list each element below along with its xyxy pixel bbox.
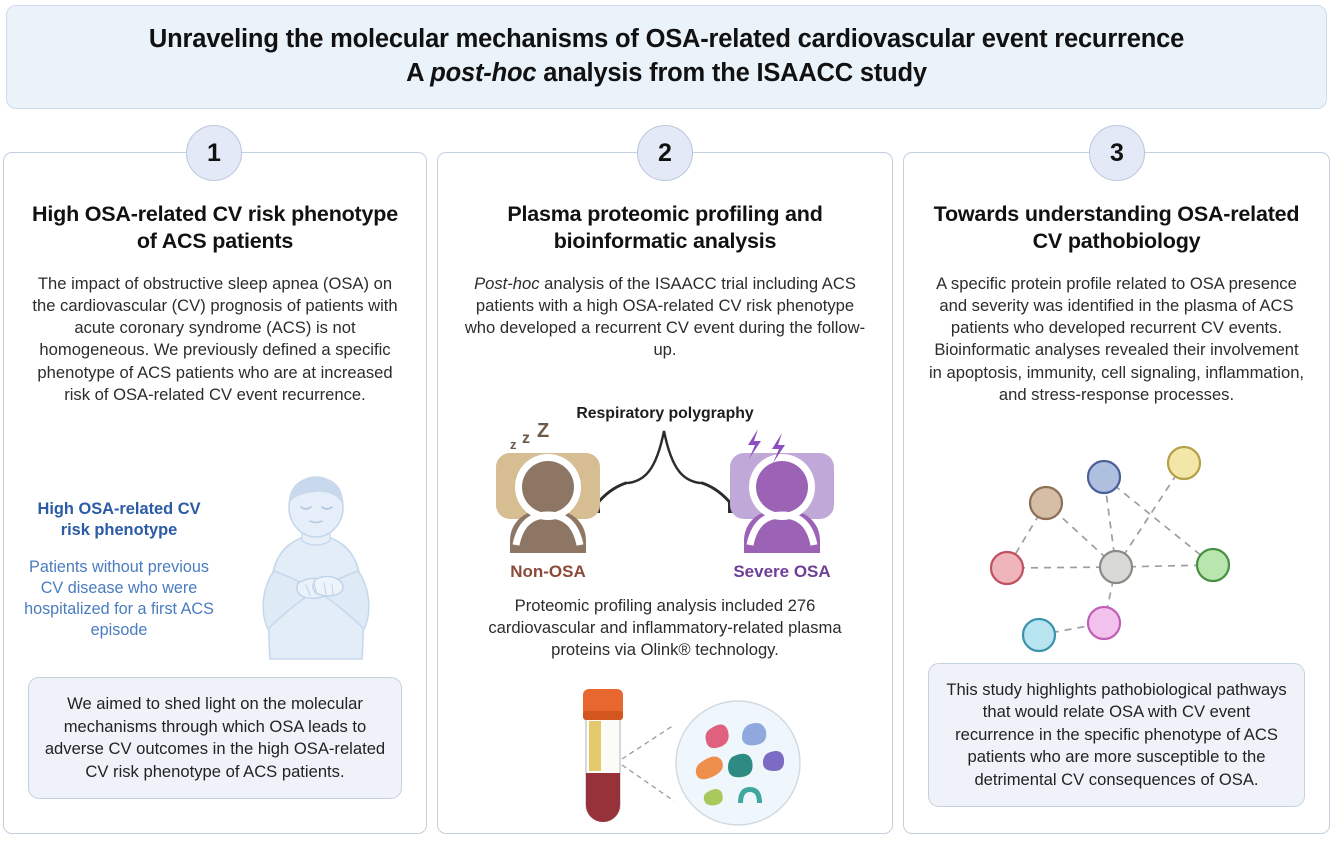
- panel-3-callout: This study highlights pathobiological pa…: [928, 663, 1305, 807]
- graphical-abstract: Unraveling the molecular mechanisms of O…: [0, 0, 1333, 841]
- panel-2-body-emphasis: Post-hoc: [474, 274, 539, 293]
- patient-illustration: [232, 479, 400, 661]
- network-node-pink: [1088, 607, 1120, 639]
- panel-3-body: A specific protein profile related to OS…: [904, 255, 1329, 406]
- network-node-tan: [1030, 487, 1062, 519]
- panel-1-body: The impact of obstructive sleep apnea (O…: [4, 255, 426, 406]
- non-osa-caption: Non-OSA: [510, 562, 586, 581]
- panel-2-blood-figure: [438, 681, 892, 831]
- title-line-2-pre: A: [406, 59, 430, 87]
- svg-text:z: z: [522, 430, 530, 447]
- title-line-2-post: analysis from the ISAACC study: [536, 59, 927, 87]
- network-node-yellow: [1168, 447, 1200, 479]
- panel-2-body: Post-hoc analysis of the ISAACC trial in…: [438, 255, 892, 362]
- polygraphy-label: Respiratory polygraphy: [438, 405, 892, 423]
- panel-1-figure: High OSA-related CV risk phenotype Patie…: [4, 483, 426, 663]
- title-line-1: Unraveling the molecular mechanisms of O…: [149, 23, 1184, 57]
- network-node-cyan: [1023, 619, 1055, 651]
- svg-text:Z: Z: [537, 420, 549, 442]
- panel-2-body2: Proteomic profiling analysis included 27…: [438, 595, 892, 662]
- panel-2-osa-comparison: z z Z Non-OSA Severe OS: [438, 425, 892, 585]
- title-banner: Unraveling the molecular mechanisms of O…: [6, 5, 1327, 109]
- polygraph-waveform: [628, 431, 700, 483]
- step-badge-1: 1: [186, 125, 242, 181]
- phenotype-sublabel: Patients without previous CV disease who…: [18, 557, 220, 641]
- network-node-blue: [1088, 461, 1120, 493]
- panel-1-callout: We aimed to shed light on the molecular …: [28, 677, 402, 799]
- panel-1: High OSA-related CV risk phenotype of AC…: [3, 152, 427, 834]
- panel-2: Plasma proteomic profiling and bioinform…: [437, 152, 893, 834]
- sleep-zzz-icon: z z Z: [510, 420, 549, 452]
- panel-3: Towards understanding OSA-related CV pat…: [903, 152, 1330, 834]
- non-osa-person-icon: [496, 453, 600, 553]
- step-badge-3: 3: [1089, 125, 1145, 181]
- network-node-red: [991, 552, 1023, 584]
- severe-osa-person-icon: [730, 453, 834, 553]
- phenotype-label: High OSA-related CV risk phenotype: [26, 499, 212, 541]
- protein-network-diagram: [904, 441, 1329, 631]
- network-node-hub: [1100, 551, 1132, 583]
- network-nodes: [991, 447, 1229, 651]
- title-line-2: A post-hoc analysis from the ISAACC stud…: [406, 57, 927, 91]
- title-line-2-emphasis: post-hoc: [430, 59, 536, 87]
- svg-text:z: z: [510, 437, 517, 452]
- network-node-green: [1197, 549, 1229, 581]
- step-badge-2: 2: [637, 125, 693, 181]
- severe-osa-caption: Severe OSA: [733, 562, 830, 581]
